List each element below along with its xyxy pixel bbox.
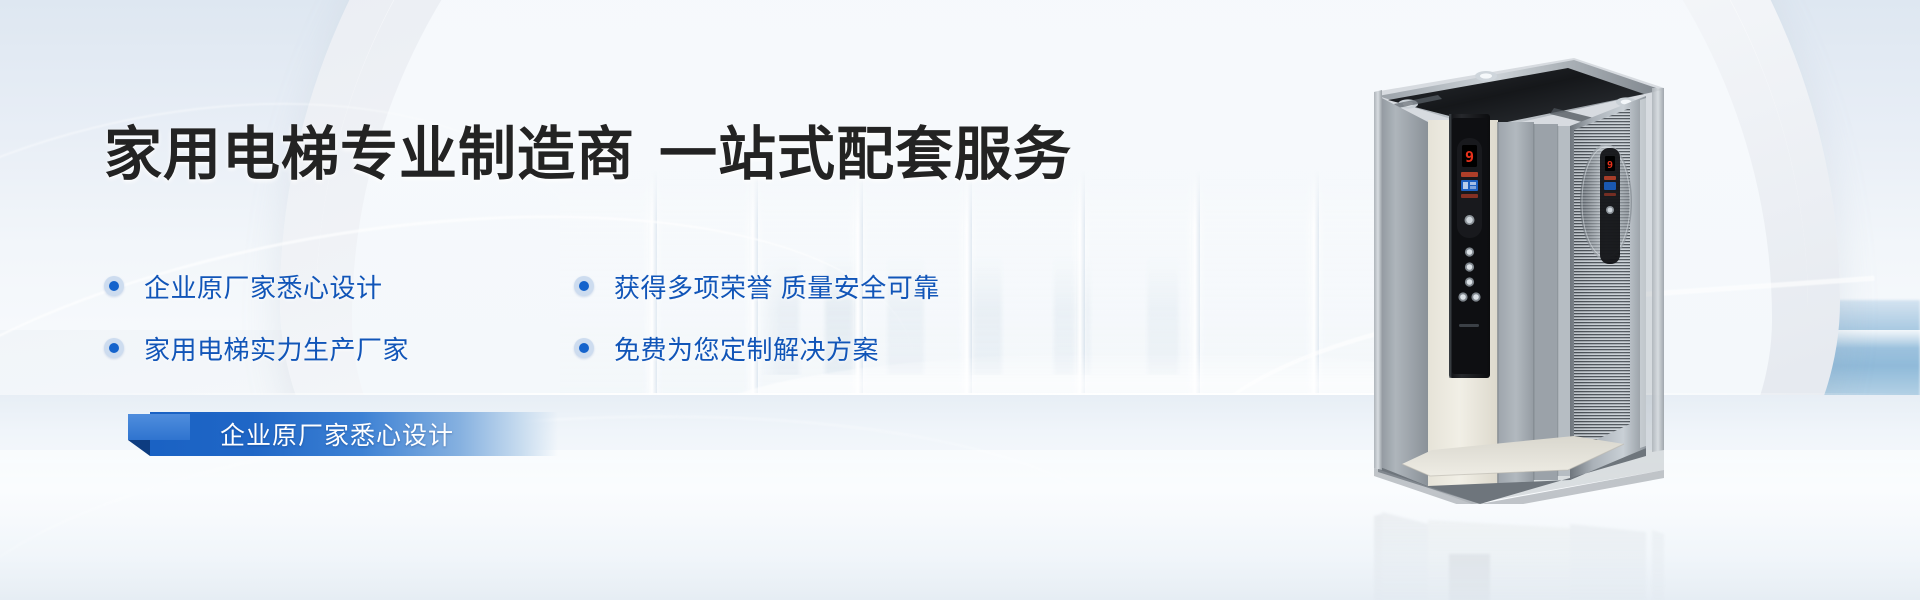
floor-indicator-digit: 9 — [1465, 148, 1474, 166]
feature-list: 企业原厂家悉心设计 获得多项荣誉 质量安全可靠 家用电梯实力生产厂家 免费为您定… — [104, 255, 1064, 379]
page-title: 家用电梯专业制造商一站式配套服务 — [104, 126, 1072, 184]
cab-right-wall: 9 — [1570, 96, 1646, 480]
home-elevator-cab: 9 — [1368, 52, 1668, 504]
list-item-label: 企业原厂家悉心设计 — [144, 268, 383, 305]
cab-left-wall — [1378, 96, 1432, 487]
list-item-label: 获得多项荣誉 质量安全可靠 — [614, 268, 940, 305]
ribbon-label: 企业原厂家悉心设计 — [220, 412, 454, 456]
list-item: 获得多项荣誉 质量安全可靠 — [574, 255, 994, 317]
bullet-dot-icon — [104, 276, 124, 296]
list-item-label: 家用电梯实力生产厂家 — [144, 330, 409, 367]
list-item-label: 免费为您定制解决方案 — [614, 330, 879, 367]
bullet-dot-icon — [574, 338, 594, 358]
hero-banner: 9 — [0, 0, 1920, 600]
floor-indicator-digit-mirror: 9 — [1607, 160, 1613, 171]
bullet-dot-icon — [104, 338, 124, 358]
list-item: 家用电梯实力生产厂家 — [104, 317, 464, 379]
list-item: 企业原厂家悉心设计 — [104, 255, 464, 317]
highlight-ribbon: 企业原厂家悉心设计 — [128, 412, 558, 456]
ribbon-fold-tab — [128, 414, 190, 440]
bullet-dot-icon — [574, 276, 594, 296]
list-item: 免费为您定制解决方案 — [574, 317, 994, 379]
headline-part-2: 一站式配套服务 — [659, 122, 1072, 187]
banner-content: 家用电梯专业制造商一站式配套服务 企业原厂家悉心设计 获得多项荣誉 质量安全可靠… — [0, 0, 1100, 600]
headline-part-1: 家用电梯专业制造商 — [104, 122, 635, 187]
elevator-control-panel: 9 — [1449, 114, 1490, 378]
ribbon-fold-notch — [128, 440, 150, 456]
